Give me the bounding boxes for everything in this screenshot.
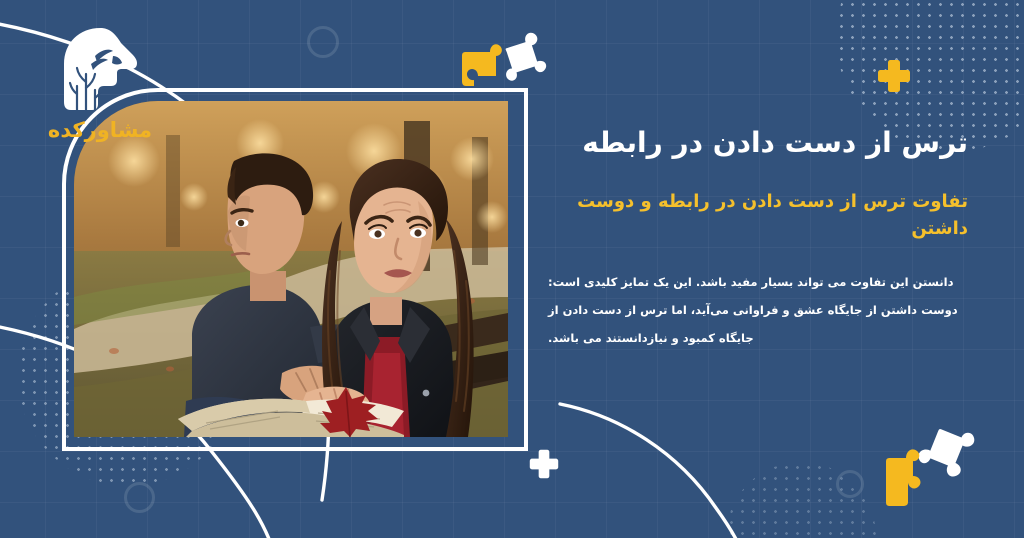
body-line: دوست داشتن از جایگاه عشق و فراوانی می‌آی… [548,296,968,324]
text-content-block: ترس از دست دادن در رابطه تفاوت ترس از دس… [548,124,968,352]
page-subtitle: تفاوت ترس از دست دادن در رابطه و دوست دا… [548,188,968,242]
body-line: جایگاه کمبود و نیازدانستند می باشد. [548,324,968,352]
puzzle-pieces-icon [460,30,552,96]
hero-photo [74,101,508,437]
outline-circle-icon [124,482,155,513]
body-paragraph: دانستن این تفاوت می تواند بسیار مفید باش… [548,268,968,353]
outline-circle-icon [836,470,864,498]
body-line: دانستن این تفاوت می تواند بسیار مفید باش… [548,268,968,296]
brand-logo[interactable]: مشاورکده [34,26,166,141]
brand-name: مشاورکده [34,120,166,141]
plus-icon [528,448,560,480]
outline-circle-icon [307,26,339,58]
page-title: ترس از دست دادن در رابطه [548,124,968,162]
head-with-plants-icon [51,26,149,118]
puzzle-pieces-icon [884,424,990,514]
banner-canvas: مشاورکده [0,0,1024,538]
dot-cluster-bottom-right [726,462,876,538]
plus-icon [876,58,912,94]
